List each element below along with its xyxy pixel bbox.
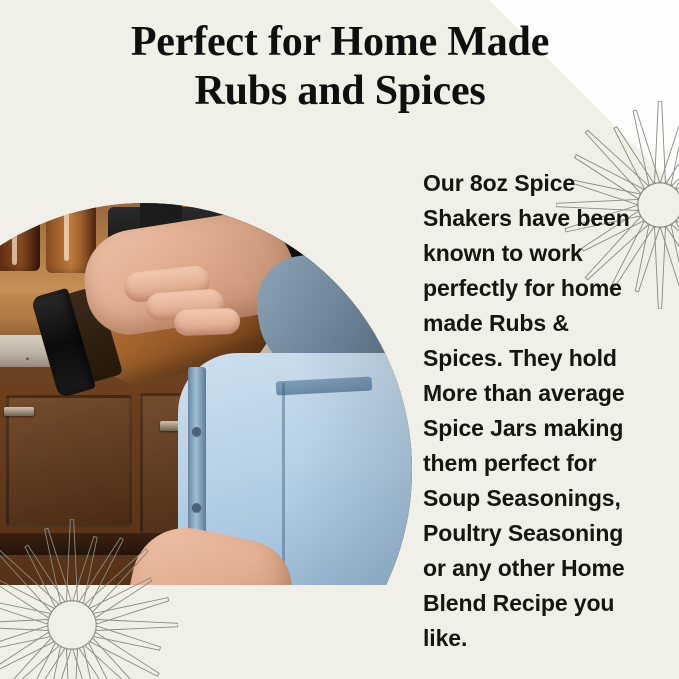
product-photo	[0, 203, 412, 679]
product-infographic-canvas: Perfect for Home Made Rubs and Spices	[0, 0, 679, 679]
page-title: Perfect for Home Made Rubs and Spices	[60, 18, 620, 115]
cutting-board	[0, 622, 303, 679]
product-description: Our 8oz Spice Shakers have been known to…	[423, 166, 669, 656]
